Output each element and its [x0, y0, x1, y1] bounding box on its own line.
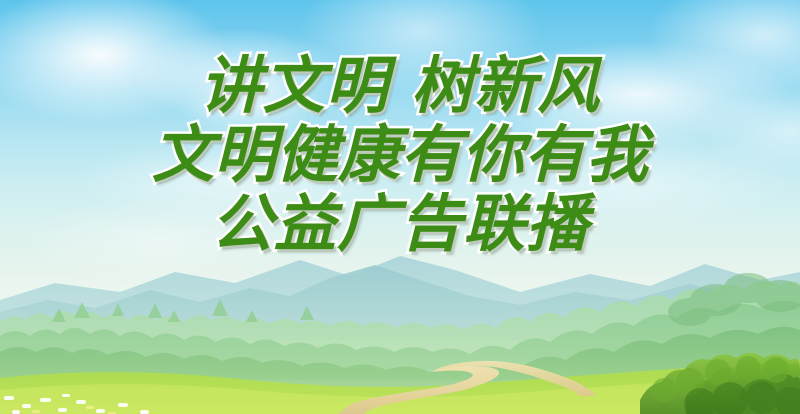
- headline-text-block: 讲文明 树新风 文明健康有你有我 公益广告联播: [0, 54, 800, 256]
- public-service-ad-banner: 讲文明 树新风 文明健康有你有我 公益广告联播: [0, 0, 800, 414]
- headline-line-2: 文明健康有你有我: [0, 123, 800, 186]
- headline-line-3: 公益广告联播: [0, 192, 800, 255]
- headline-line-1: 讲文明 树新风: [0, 54, 800, 117]
